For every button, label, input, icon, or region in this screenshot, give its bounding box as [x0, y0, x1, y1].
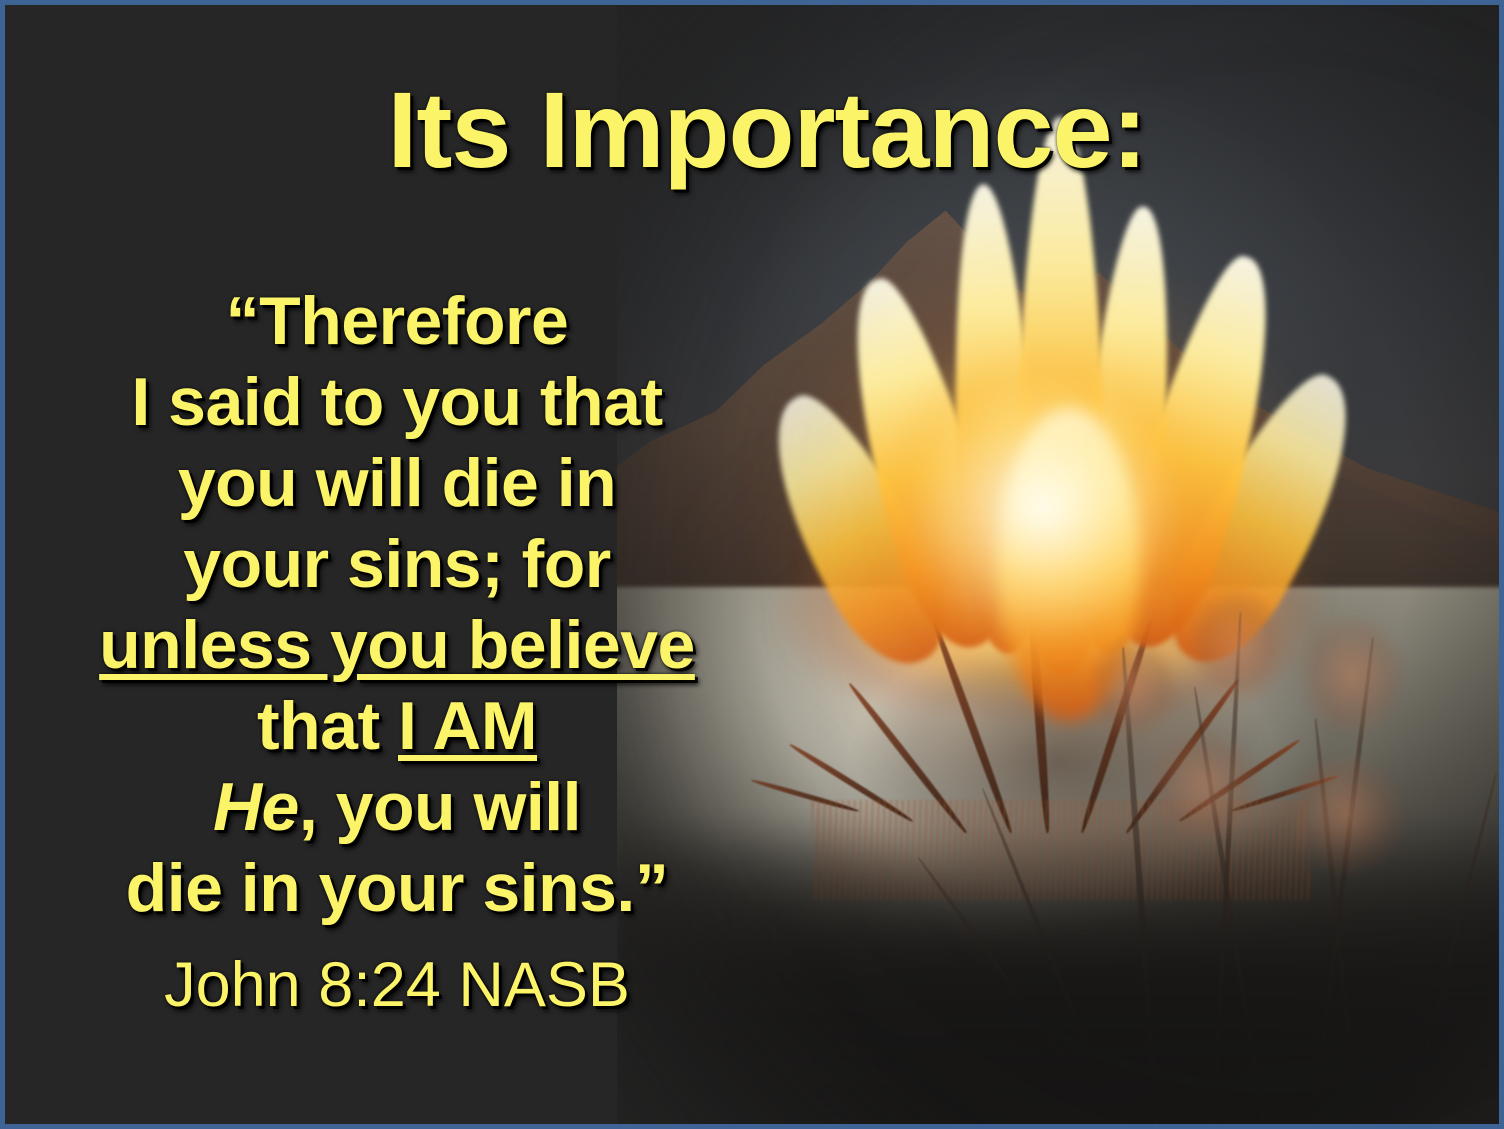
- quote-line: die in your sins.”: [27, 848, 767, 929]
- quote-text: you will die in: [178, 445, 616, 521]
- scripture-citation: John 8:24 NASB: [27, 949, 767, 1021]
- quote-text-emphasized: unless you believe: [99, 607, 695, 683]
- quote-text: that: [257, 688, 398, 764]
- quote-text: I said to you that: [131, 364, 662, 440]
- quote-text: die in your sins.”: [126, 850, 669, 926]
- quote-line: that I AM: [27, 686, 767, 767]
- page-title: Its Importance:: [5, 73, 1499, 186]
- presentation-slide: Its Importance: “Therefore I said to you…: [0, 0, 1504, 1129]
- quote-text: “Therefore: [226, 283, 569, 359]
- quote-line: unless you believe: [27, 605, 767, 686]
- slide-text-layer: Its Importance: “Therefore I said to you…: [5, 5, 1499, 1124]
- quote-line: your sins; for: [27, 524, 767, 605]
- quote-text-emphasized: I AM: [398, 688, 537, 764]
- quote-line: you will die in: [27, 443, 767, 524]
- scripture-quote: “Therefore I said to you that you will d…: [27, 281, 767, 929]
- quote-text-italic: He: [213, 769, 299, 845]
- quote-line: “Therefore: [27, 281, 767, 362]
- quote-line: I said to you that: [27, 362, 767, 443]
- quote-text: your sins; for: [183, 526, 611, 602]
- quote-text: , you will: [299, 769, 581, 845]
- quote-line: He, you will: [27, 767, 767, 848]
